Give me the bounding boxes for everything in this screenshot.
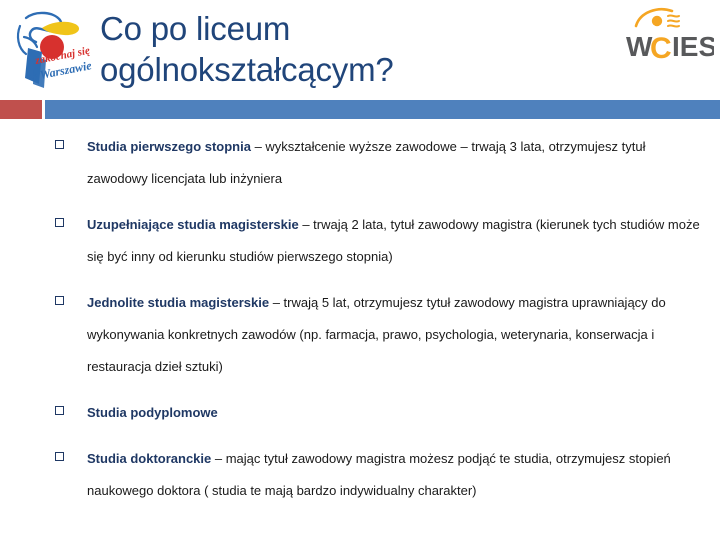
list-item: Jednolite studia magisterskie – trwają 5… [46, 287, 706, 383]
hollow-square-bullet-icon [55, 452, 64, 461]
list-item-text: Studia pierwszego stopnia – wykształceni… [87, 131, 706, 195]
list-item-text: Studia doktoranckie – mając tytuł zawodo… [87, 443, 706, 507]
list-item-lead: Studia doktoranckie [87, 451, 211, 466]
list-item: Studia doktoranckie – mając tytuł zawodo… [46, 443, 706, 507]
divider-bar-blue [45, 100, 720, 119]
wcies-wordmark-c: C [650, 32, 672, 65]
list-item: Studia podyplomowe [46, 397, 706, 429]
hollow-square-bullet-icon [55, 140, 64, 149]
wcies-logo: W C IES [622, 4, 714, 70]
page-title: Co po liceum ogólnokształcącym? [100, 8, 620, 90]
hollow-square-bullet-icon [55, 296, 64, 305]
wcies-wordmark-w: W [626, 31, 653, 62]
wcies-dot-icon [652, 16, 662, 26]
hollow-square-bullet-icon [55, 406, 64, 415]
slide-canvas: zakochaj się w Warszawie Co po liceum og… [0, 0, 720, 540]
hollow-square-bullet-icon [55, 218, 64, 227]
list-item-lead: Uzupełniające studia magisterskie [87, 217, 299, 232]
list-item: Uzupełniające studia magisterskie – trwa… [46, 209, 706, 273]
list-item: Studia pierwszego stopnia – wykształceni… [46, 131, 706, 195]
list-item-lead: Studia podyplomowe [87, 405, 218, 420]
list-item-text: Jednolite studia magisterskie – trwają 5… [87, 287, 706, 383]
list-item-lead: Jednolite studia magisterskie [87, 295, 269, 310]
wcies-wordmark-ies: IES [672, 31, 714, 62]
bullet-list: Studia pierwszego stopnia – wykształceni… [46, 131, 706, 521]
zakochaj-sie-w-warszawie-logo: zakochaj się w Warszawie [6, 4, 98, 96]
list-item-lead: Studia pierwszego stopnia [87, 139, 251, 154]
divider-bar-red [0, 100, 42, 119]
slide-header: zakochaj się w Warszawie Co po liceum og… [0, 0, 720, 100]
list-item-text: Studia podyplomowe [87, 397, 706, 429]
list-item-text: Uzupełniające studia magisterskie – trwa… [87, 209, 706, 273]
